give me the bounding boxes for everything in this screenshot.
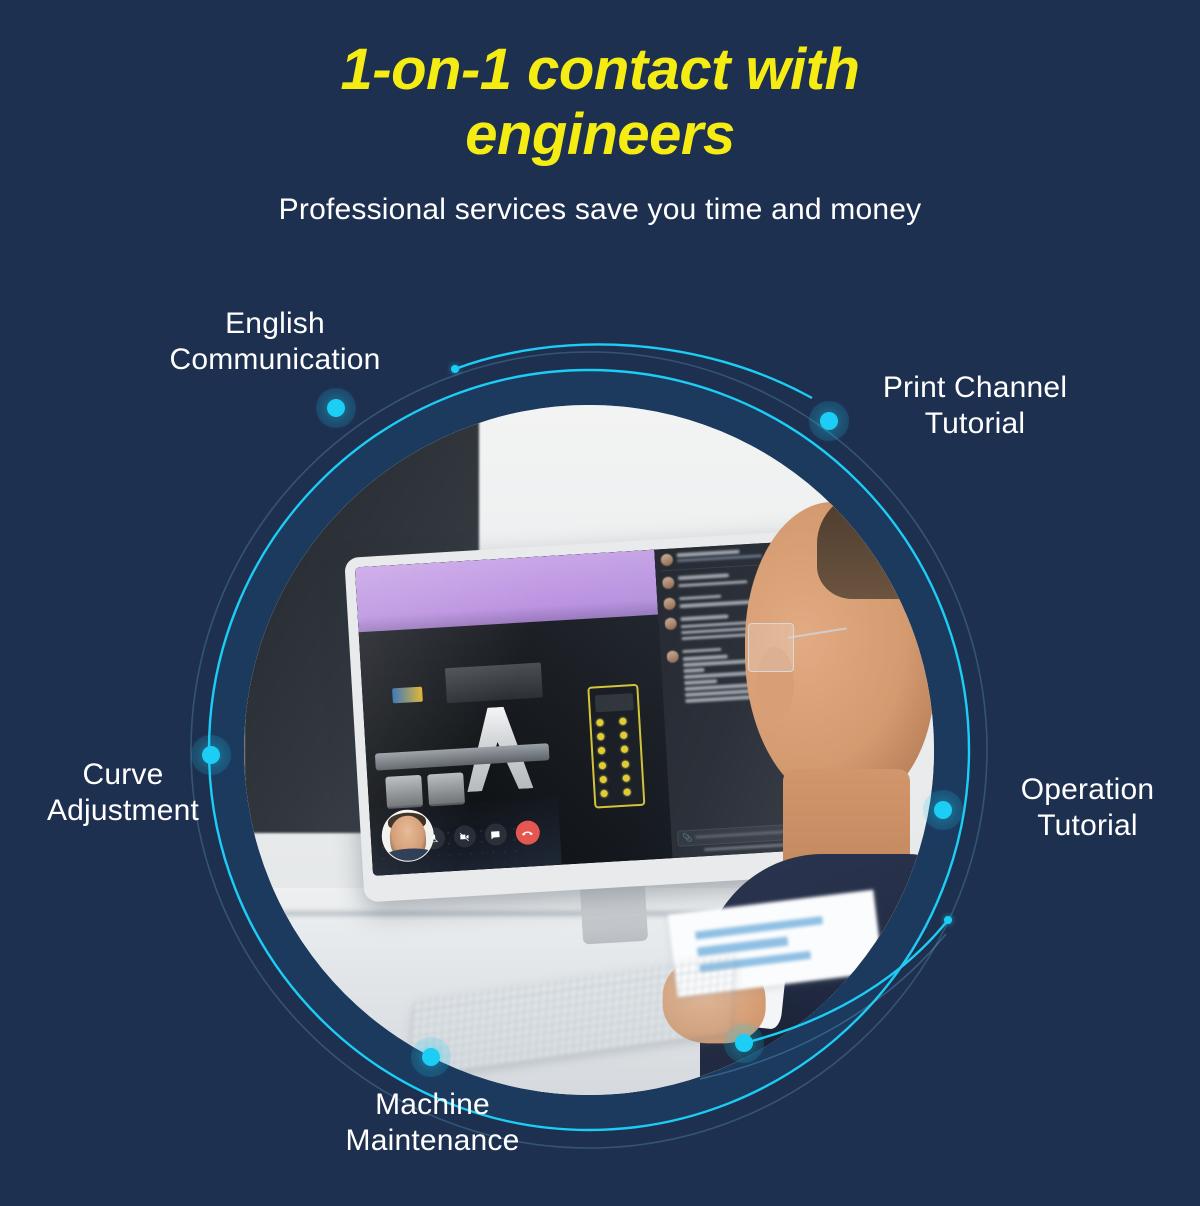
feature-label-line-2: Maintenance: [325, 1123, 540, 1159]
camera-off-icon: [459, 831, 471, 843]
feature-label-line-1: English: [120, 306, 430, 342]
feature-label-line-2: Tutorial: [975, 808, 1200, 844]
page-subtitle: Professional services save you time and …: [0, 193, 1200, 227]
circular-photo-composition: •••: [209, 370, 969, 1130]
printer-drum: [386, 775, 424, 809]
printer-sticker: [392, 687, 423, 703]
hangup-icon: [521, 826, 535, 840]
feature-label-line-2: Adjustment: [18, 793, 228, 829]
open-chat-button[interactable]: [484, 823, 507, 846]
glasses-arm: [788, 627, 847, 638]
feature-label-operation-tutorial[interactable]: Operation Tutorial: [975, 772, 1200, 844]
feature-label-line-2: Communication: [120, 342, 430, 378]
end-call-button[interactable]: [515, 820, 540, 845]
person-head: [745, 502, 934, 806]
headline-line-1: 1-on-1 contact with: [341, 37, 860, 102]
printer-drum: [428, 773, 466, 807]
promo-banner: 1-on-1 contact with engineers Profession…: [0, 0, 1200, 1201]
headline-line-2: engineers: [0, 103, 1200, 168]
feature-label-line-2: Tutorial: [855, 406, 1095, 442]
feature-label-print-channel-tutorial[interactable]: Print Channel Tutorial: [855, 370, 1095, 442]
feature-label-machine-maintenance[interactable]: Machine Maintenance: [325, 1087, 540, 1159]
feature-label-line-1: Operation: [975, 772, 1200, 808]
page-title: 1-on-1 contact with engineers: [0, 38, 1200, 168]
eyeglasses: [748, 623, 847, 672]
person-hair: [817, 489, 934, 598]
feature-label-curve-adjustment[interactable]: Curve Adjustment: [18, 757, 228, 829]
chat-bubble-icon: [490, 829, 502, 841]
feature-label-english-communication[interactable]: English Communication: [120, 306, 430, 378]
photo-circle: •••: [244, 405, 934, 1095]
feature-label-line-1: Machine: [325, 1087, 540, 1123]
video-feed-pane: •••: [355, 550, 673, 876]
stop-video-button[interactable]: [453, 825, 476, 848]
glasses-lens: [748, 623, 794, 672]
feature-label-line-1: Curve: [18, 757, 228, 793]
printer-lcd-display: [595, 693, 634, 712]
office-photo: •••: [244, 405, 934, 1095]
feature-label-line-1: Print Channel: [855, 370, 1095, 406]
printer-control-board: [445, 663, 543, 703]
